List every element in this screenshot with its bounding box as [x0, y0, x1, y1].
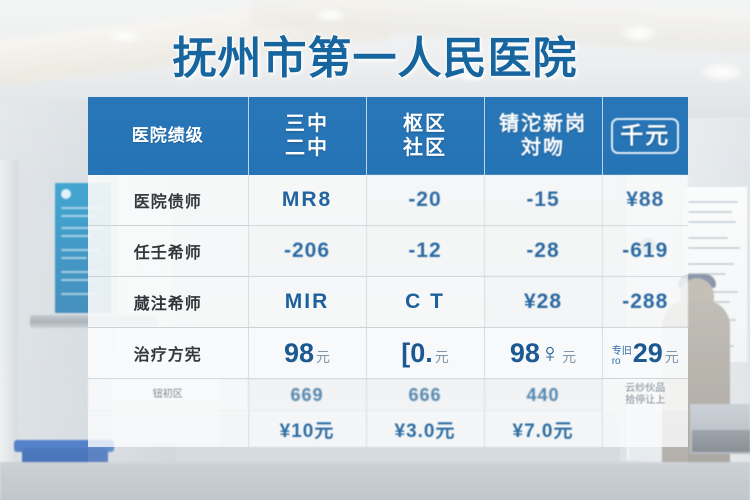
subrow-value: 440 — [484, 379, 602, 412]
cell-value: C T — [366, 277, 484, 328]
table-row[interactable]: 任壬希师 -206 -12 -28 -619 — [88, 226, 688, 277]
counter-panel — [692, 430, 750, 452]
price-unit: 元 — [562, 349, 576, 365]
subrow-note: 云纱伙品 拾停让上 — [602, 379, 688, 412]
poster-logo-icon — [61, 189, 71, 199]
row-label: 蒇注希师 — [88, 277, 248, 328]
price-unit: 元 — [316, 349, 330, 365]
table-row[interactable]: 蒇注希师 MIR C T ¥28 -288 — [88, 277, 688, 328]
cell-value: ¥28 — [484, 277, 602, 328]
price-table-panel: 医院绩级 三中 二中 枢区 社区 锖沱新岗 対吻 千元 医院债师 MR8 -20 — [88, 97, 688, 465]
table-subrow-secondary[interactable]: ¥10元 ¥3.0元 ¥7.0元 — [88, 411, 688, 447]
cell-value: -20 — [366, 175, 484, 226]
table-row[interactable]: 医院债师 MR8 -20 -15 ¥88 — [88, 175, 688, 226]
cell-value: -206 — [248, 226, 366, 277]
ceiling-light — [316, 8, 346, 22]
subrow2-value: ¥3.0元 — [366, 411, 484, 447]
price-unit: 元 — [665, 349, 679, 365]
cell-value: -28 — [484, 226, 602, 277]
header-row: 医院绩级 三中 二中 枢区 社区 锖沱新岗 対吻 千元 — [88, 97, 688, 175]
header-cell-garbled[interactable]: 锖沱新岗 対吻 — [484, 97, 602, 175]
header-text-line1: 锖沱新岗 — [485, 112, 602, 136]
cell-value: -288 — [602, 277, 688, 328]
header-cell-shuqu-shequ[interactable]: 枢区 社区 — [366, 97, 484, 175]
table-header: 医院绩级 三中 二中 枢区 社区 锖沱新岗 対吻 千元 — [88, 97, 688, 175]
promo-prefix-line2: ro — [612, 356, 621, 367]
header-text-line2: 対吻 — [485, 136, 602, 160]
cell-value: MIR — [248, 277, 366, 328]
subrow2-value — [602, 411, 688, 447]
header-cell-sanzhong-erzhong[interactable]: 三中 二中 — [248, 97, 366, 175]
header-text-line2: 二中 — [249, 136, 366, 160]
price-value: 98 — [284, 338, 314, 368]
subrow2-value: ¥10元 — [248, 411, 366, 447]
note-line2: 拾停让上 — [607, 395, 685, 408]
page-title: 抚州市第一人民医院 — [0, 22, 750, 86]
cell-price: 98♀元 — [484, 328, 602, 379]
qianyuan-badge: 千元 — [611, 118, 679, 153]
cell-value: -15 — [484, 175, 602, 226]
subrow2-label — [88, 411, 248, 447]
price-table: 医院绩级 三中 二中 枢区 社区 锖沱新岗 対吻 千元 医院债师 MR8 -20 — [88, 97, 688, 447]
promo-prefix: 专旧 ro — [612, 347, 632, 367]
row-label: 医院债师 — [88, 175, 248, 226]
note-line1: 云纱伙品 — [607, 383, 685, 396]
subrow-label: 钮初区 — [88, 379, 248, 412]
cell-price: 98元 — [248, 328, 366, 379]
subrow2-value: ¥7.0元 — [484, 411, 602, 447]
cell-price: [0.元 — [366, 328, 484, 379]
cell-value: -619 — [602, 226, 688, 277]
floor — [0, 462, 750, 500]
subrow-value: 666 — [366, 379, 484, 412]
price-value: [0. — [401, 338, 433, 368]
table-row-highlight[interactable]: 治疗方宪 98元 [0.元 98♀元 专旧 ro 29元 — [88, 328, 688, 379]
table-body: 医院债师 MR8 -20 -15 ¥88 任壬希师 -206 -12 -28 -… — [88, 175, 688, 447]
row-label: 任壬希师 — [88, 226, 248, 277]
price-value: 29 — [633, 338, 663, 368]
row-label: 治疗方宪 — [88, 328, 248, 379]
table-subrow[interactable]: 钮初区 669 666 440 云纱伙品 拾停让上 — [88, 379, 688, 412]
header-text-line1: 三中 — [249, 112, 366, 136]
header-text-line2: 社区 — [367, 136, 484, 160]
cell-value: -12 — [366, 226, 484, 277]
header-text: 医院绩级 — [88, 126, 248, 146]
cell-value: ¥88 — [602, 175, 688, 226]
cell-value: MR8 — [248, 175, 366, 226]
header-cell-qianyuan[interactable]: 千元 — [602, 97, 688, 175]
header-cell-hospital-grade[interactable]: 医院绩级 — [88, 97, 248, 175]
cell-price-promo: 专旧 ro 29元 — [602, 328, 688, 379]
price-value: 98♀ — [510, 338, 560, 368]
price-unit: 元 — [435, 349, 449, 365]
subrow-value: 669 — [248, 379, 366, 412]
header-text-line1: 枢区 — [367, 112, 484, 136]
